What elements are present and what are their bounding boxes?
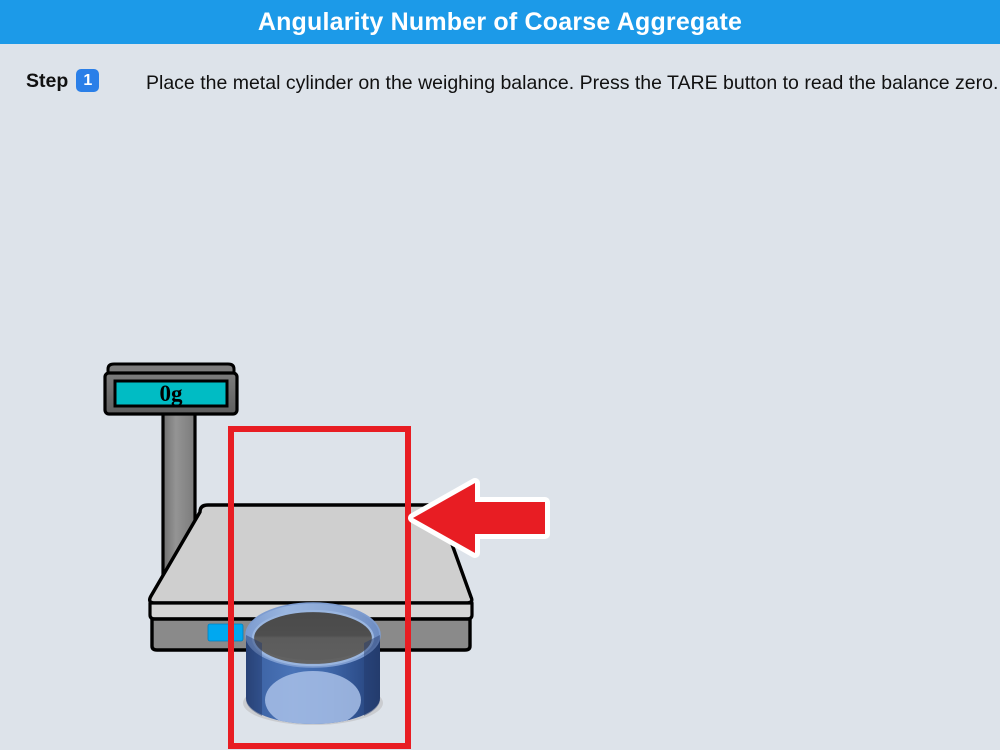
step-instruction-text: Place the metal cylinder on the weighing… <box>146 70 1000 97</box>
page-title: Angularity Number of Coarse Aggregate <box>258 10 742 35</box>
metal-cylinder <box>243 603 383 729</box>
step-instruction-block: Step1 Place the metal cylinder on the we… <box>26 70 978 93</box>
header-bar: Angularity Number of Coarse Aggregate <box>0 0 1000 44</box>
step-label: Step <box>26 70 68 92</box>
balance-display-value: 0g <box>160 381 184 406</box>
cylinder-bottom-highlight <box>265 671 361 729</box>
balance-display-head: 0g <box>105 364 237 414</box>
step-number-badge: 1 <box>76 69 99 92</box>
illustration-area: 0g Tare <box>0 150 1000 750</box>
tare-button[interactable] <box>208 624 243 641</box>
